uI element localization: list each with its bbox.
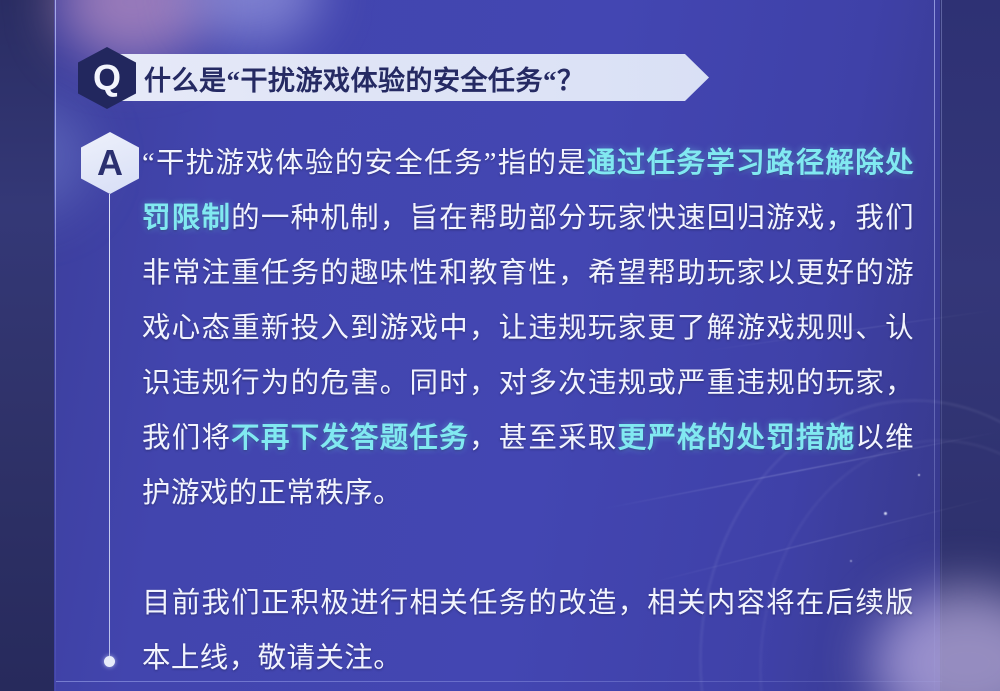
question-badge-letter: Q bbox=[93, 60, 121, 96]
body-text: “干扰游戏体验的安全任务”指的是 bbox=[142, 148, 587, 179]
question-title: 什么是“干扰游戏体验的安全任务“？ bbox=[144, 47, 585, 109]
body-text: 的一种机制，旨在帮助部分玩家快速回归游戏，我们非常注重任务的趣味性和教育性，希望… bbox=[142, 203, 914, 454]
faq-card: Q 什么是“干扰游戏体验的安全任务“？ A “干扰游戏体验的安全任务”指的是通过… bbox=[0, 0, 1000, 691]
answer-connector-dot bbox=[104, 656, 115, 667]
answer-paragraph-1: “干扰游戏体验的安全任务”指的是通过任务学习路径解除处罚限制的一种机制，旨在帮助… bbox=[142, 136, 914, 521]
body-text: 目前我们正积极进行相关任务的改造，相关内容将在后续版本上线，敬请关注。 bbox=[142, 588, 914, 674]
answer-paragraph-2: 目前我们正积极进行相关任务的改造，相关内容将在后续版本上线，敬请关注。 bbox=[142, 576, 914, 686]
answer-badge-wrap: A bbox=[81, 132, 139, 194]
highlighted-text: 更严格的处罚措施 bbox=[618, 423, 856, 454]
body-text: ，甚至采取 bbox=[469, 423, 618, 454]
highlighted-text: 不再下发答题任务 bbox=[231, 423, 469, 454]
answer-connector-line bbox=[109, 194, 110, 660]
answer-badge-letter: A bbox=[97, 145, 123, 181]
answer-badge: A bbox=[81, 132, 139, 194]
answer-body: “干扰游戏体验的安全任务”指的是通过任务学习路径解除处罚限制的一种机制，旨在帮助… bbox=[142, 136, 914, 686]
